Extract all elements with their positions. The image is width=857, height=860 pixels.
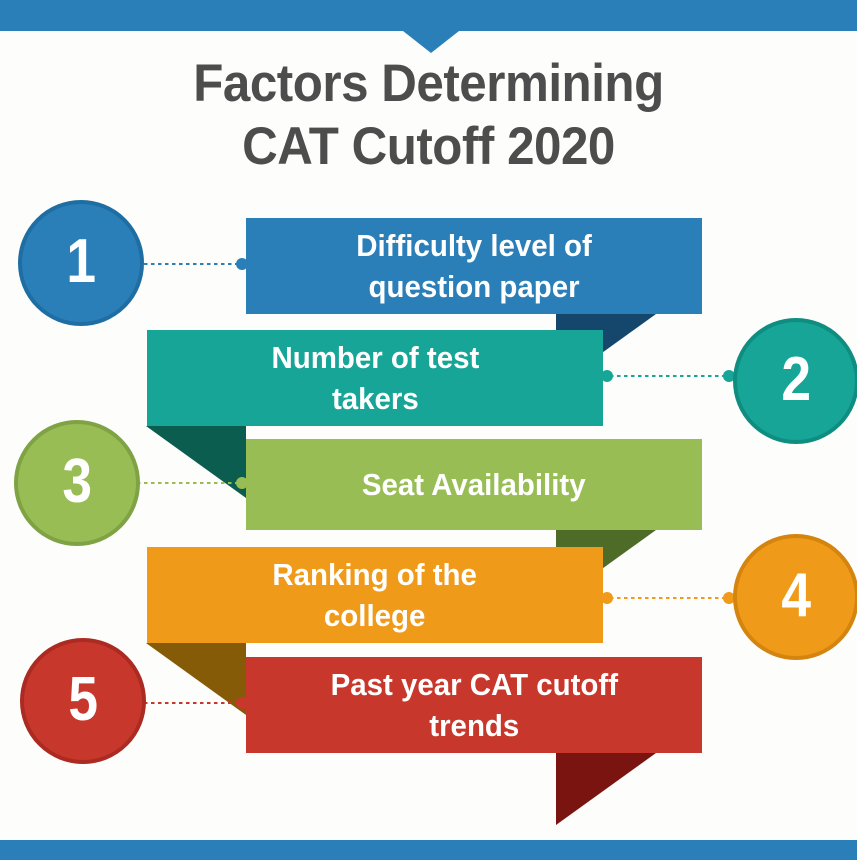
connector-line <box>601 596 735 600</box>
factor-banner[interactable]: Ranking of thecollege <box>147 547 603 643</box>
connector-end-dot <box>236 477 248 489</box>
factor-number-badge[interactable]: 5 <box>20 638 146 764</box>
connector-end-dot <box>236 697 248 709</box>
factor-label: Ranking of thecollege <box>261 554 488 636</box>
connector-dotted-line <box>137 702 239 704</box>
factor-label: Number of testtakers <box>260 337 491 419</box>
factor-label-line-1: Past year CAT cutoff <box>330 664 617 705</box>
connector-dotted-line <box>137 482 239 484</box>
factor-number-label: 1 <box>66 231 96 293</box>
page-title: Factors Determining CAT Cutoff 2020 <box>30 52 827 178</box>
factor-label-line-1: Difficulty level of <box>356 225 592 266</box>
factor-label: Difficulty level ofquestion paper <box>345 225 603 307</box>
factor-number-badge[interactable]: 4 <box>733 534 857 660</box>
factor-banner[interactable]: Past year CAT cutofftrends <box>246 657 702 753</box>
banner-fold-icon <box>146 426 246 498</box>
top-accent-bar <box>0 0 857 31</box>
connector-end-dot <box>236 258 248 270</box>
factor-banner[interactable]: Seat Availability <box>246 439 702 530</box>
top-bar-notch-icon <box>403 31 459 53</box>
factor-label: Seat Availability <box>351 464 597 505</box>
factor-label-line-2: question paper <box>356 266 592 307</box>
page-title-line-2: CAT Cutoff 2020 <box>30 115 827 178</box>
factor-banner[interactable]: Number of testtakers <box>147 330 603 426</box>
factor-label-line-2: trends <box>330 705 617 746</box>
factor-label-line-1: Ranking of the <box>273 554 478 595</box>
connector-dotted-line <box>610 375 726 377</box>
connector-line <box>601 374 735 378</box>
page-title-line-1: Factors Determining <box>30 52 827 115</box>
banner-fold-icon <box>556 753 656 825</box>
bottom-accent-bar <box>0 840 857 860</box>
connector-end-dot <box>601 592 613 604</box>
factor-label-line-1: Seat Availability <box>362 464 586 505</box>
connector-dotted-line <box>137 263 239 265</box>
factor-number-badge[interactable]: 1 <box>18 200 144 326</box>
factor-number-label: 2 <box>781 349 811 411</box>
connector-end-dot <box>601 370 613 382</box>
connector-line <box>128 481 248 485</box>
infographic-canvas: Factors Determining CAT Cutoff 2020 Diff… <box>0 0 857 860</box>
factor-number-badge[interactable]: 2 <box>733 318 857 444</box>
factor-number-label: 4 <box>781 565 811 627</box>
factor-number-label: 5 <box>68 669 98 731</box>
factor-label: Past year CAT cutofftrends <box>319 664 629 746</box>
factor-number-label: 3 <box>62 451 92 513</box>
factor-label-line-2: takers <box>271 378 479 419</box>
connector-line <box>128 262 248 266</box>
connector-line <box>128 701 248 705</box>
factor-number-badge[interactable]: 3 <box>14 420 140 546</box>
factor-label-line-1: Number of test <box>271 337 479 378</box>
factor-banner[interactable]: Difficulty level ofquestion paper <box>246 218 702 314</box>
factor-label-line-2: college <box>273 595 478 636</box>
connector-dotted-line <box>610 597 726 599</box>
